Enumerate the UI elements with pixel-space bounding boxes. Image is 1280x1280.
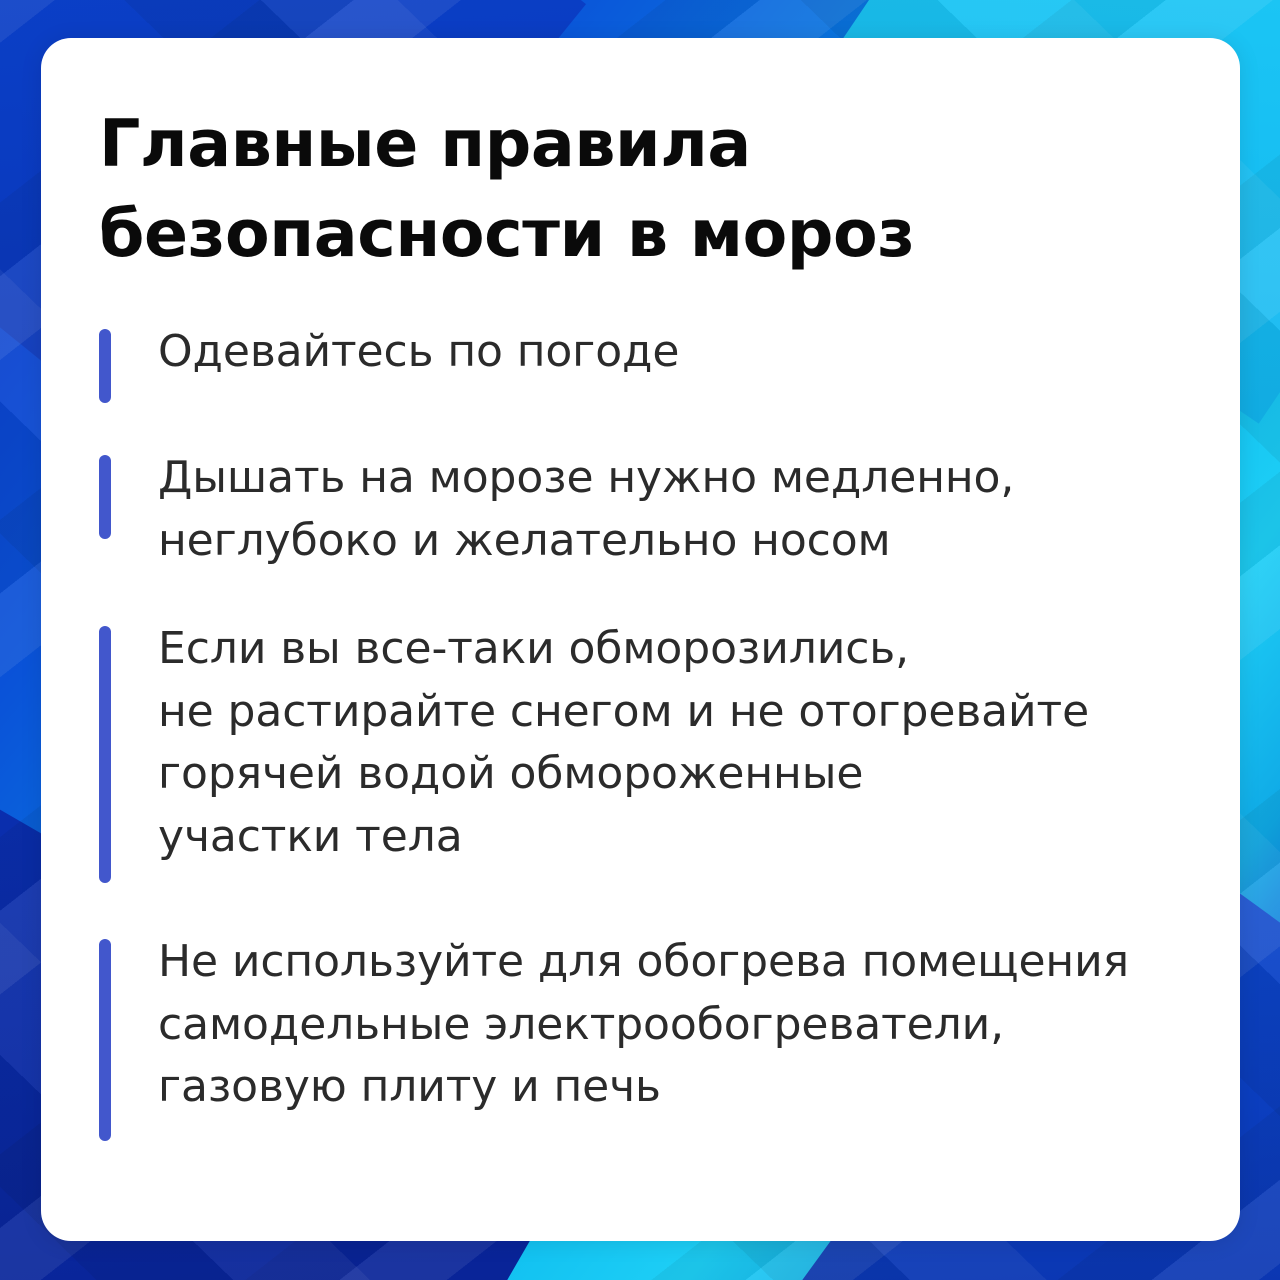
rule-text: Одевайтесь по погоде [158,321,1200,383]
list-item: Не используйте для обогрева помещения са… [99,931,1200,1141]
bullet-bar-icon [99,626,111,883]
poster-root: Главные правила безопасности в мороз Оде… [0,0,1280,1280]
content-card: Главные правила безопасности в мороз Оде… [41,38,1240,1241]
rule-text: Не используйте для обогрева помещения са… [158,931,1200,1118]
rule-text: Дышать на морозе нужно медленно, неглубо… [158,447,1200,572]
bullet-bar-icon [99,329,111,403]
safety-rules-list: Одевайтесь по погоде Дышать на морозе ну… [99,321,1200,1141]
rule-text: Если вы все-таки обморозились, не растир… [158,618,1200,868]
page-title: Главные правила безопасности в мороз [99,100,1200,279]
list-item: Дышать на морозе нужно медленно, неглубо… [99,447,1200,572]
bullet-bar-icon [99,455,111,539]
list-item: Если вы все-таки обморозились, не растир… [99,618,1200,883]
list-item: Одевайтесь по погоде [99,321,1200,403]
bullet-bar-icon [99,939,111,1141]
